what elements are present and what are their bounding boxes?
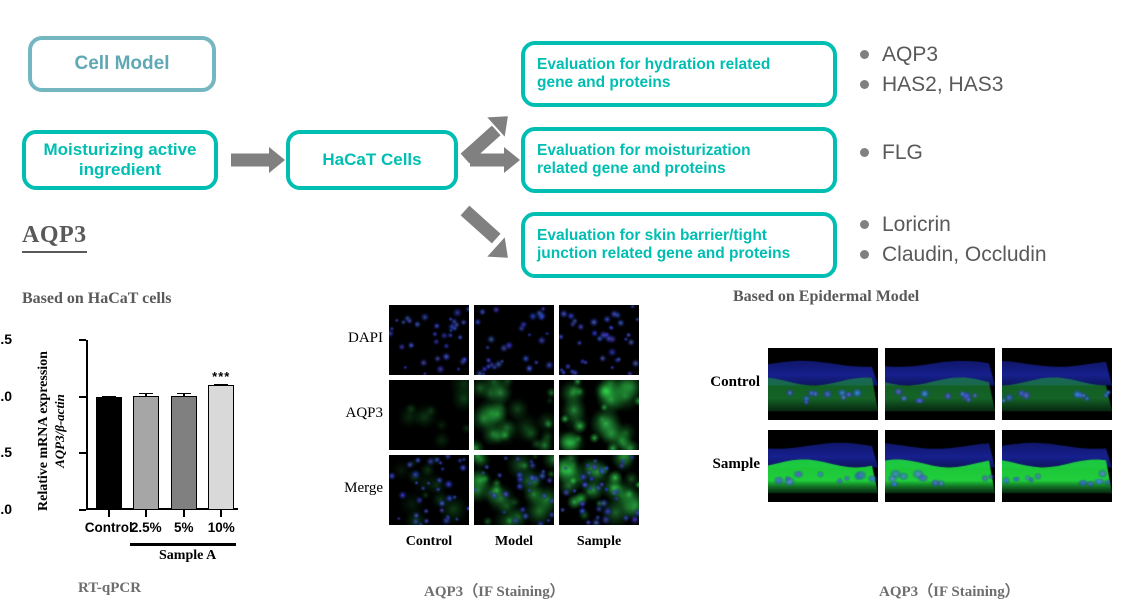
sample-a-bracket [130, 543, 236, 546]
eval-box-moisturization[interactable]: Evaluation for moisturizationrelated gen… [521, 127, 837, 193]
arrow-shaft [461, 206, 501, 244]
micrograph-cell [474, 305, 554, 375]
mid-col-label-sample: Sample [577, 534, 621, 550]
error-bar-cap [139, 393, 153, 395]
arrow-head [269, 147, 285, 173]
mid-col-label-model: Model [495, 534, 533, 550]
hacat-label: HaCaT Cells [322, 150, 421, 170]
mid-panel-caption: AQP3（IF Staining） [424, 580, 565, 601]
error-bar-cap [177, 393, 191, 395]
micrograph-cell [885, 430, 995, 502]
x-tick-label: 2.5% [131, 520, 162, 535]
left-panel-title: Based on HaCaT cells [22, 290, 172, 308]
plot-area: *** [86, 340, 236, 510]
micrograph-cell [474, 455, 554, 525]
bullet-label: AQP3 [882, 41, 938, 69]
y-tick-label: 1.5 [0, 331, 12, 347]
arrow-shaft [231, 154, 271, 167]
y-tick [79, 396, 86, 398]
bar [96, 397, 122, 510]
y-tick [79, 452, 86, 454]
left-panel-caption: RT-qPCR [78, 580, 141, 597]
micrograph-cell [389, 380, 469, 450]
hacat-box[interactable]: HaCaT Cells [286, 130, 458, 190]
micrograph-cell [885, 348, 995, 420]
bullet-label: Claudin, Occludin [882, 241, 1047, 269]
x-tick [108, 510, 110, 517]
eval-box-hydration-label: Evaluation for hydration relatedgene and… [537, 56, 770, 93]
right-panel-caption: AQP3（IF Staining） [879, 580, 1020, 601]
bullet-dot-icon [860, 50, 869, 59]
list-item: HAS2, HAS3 [860, 71, 1003, 99]
mid-row-label-aqp3: AQP3 [335, 405, 383, 422]
y-tick [79, 339, 86, 341]
list-item: Loricrin [860, 211, 1047, 239]
page-title: AQP3 [22, 222, 87, 253]
bullet-group-barrier: Loricrin Claudin, Occludin [860, 211, 1047, 270]
mid-micrograph-grid: DAPIAQP3MergeControlModelSample [335, 305, 640, 550]
cell-model-label: Cell Model [74, 53, 169, 75]
y-axis [86, 340, 88, 510]
significance-marker: *** [212, 369, 230, 384]
bullet-dot-icon [860, 220, 869, 229]
micrograph-cell [559, 305, 639, 375]
micrograph-cell [1002, 348, 1112, 420]
y-tick-label: 0.0 [0, 501, 12, 517]
ingredient-label: Moisturizing activeingredient [43, 140, 196, 180]
x-tick-label: Control [85, 520, 133, 535]
bar-chart: Relative mRNA expression AQP3/β-actin **… [20, 326, 250, 566]
ingredient-box[interactable]: Moisturizing activeingredient [22, 130, 218, 190]
micrograph-cell [768, 348, 878, 420]
bullet-dot-icon [860, 148, 869, 157]
y-axis-label: Relative mRNA expression AQP3/β-actin [36, 336, 68, 526]
cell-model-box[interactable]: Cell Model [28, 36, 216, 92]
micrograph-cell [768, 430, 878, 502]
y-axis-label-line1: Relative mRNA expression [36, 336, 52, 526]
eval-box-barrier[interactable]: Evaluation for skin barrier/tightjunctio… [521, 212, 837, 278]
arrow-shaft [470, 154, 506, 167]
list-item: FLG [860, 139, 923, 167]
arrow-hacat-to-eval2 [470, 146, 520, 174]
error-bar-cap [214, 384, 228, 386]
y-axis-label-line2: AQP3/β-actin [52, 336, 68, 526]
list-item: AQP3 [860, 41, 1003, 69]
micrograph-cell [474, 380, 554, 450]
bar [171, 396, 197, 510]
arrow-head [504, 147, 520, 173]
eval-box-moisturization-label: Evaluation for moisturizationrelated gen… [537, 142, 751, 179]
right-micrograph-grid: ControlSample [690, 348, 1115, 533]
right-row-label-control: Control [690, 374, 760, 391]
list-item: Claudin, Occludin [860, 241, 1047, 269]
mid-row-label-merge: Merge [335, 480, 383, 497]
micrograph-cell [559, 380, 639, 450]
bullet-group-hydration: AQP3 HAS2, HAS3 [860, 41, 1003, 100]
x-tick [183, 510, 185, 517]
bullet-label: FLG [882, 139, 923, 167]
bullet-label: Loricrin [882, 211, 951, 239]
mid-col-label-control: Control [406, 534, 452, 550]
y-tick-label: 0.5 [0, 444, 12, 460]
error-bar-cap [102, 396, 116, 398]
right-panel-title: Based on Epidermal Model [733, 288, 919, 306]
bullet-dot-icon [860, 250, 869, 259]
x-tick [220, 510, 222, 517]
micrograph-cell [389, 455, 469, 525]
x-tick-label: 10% [208, 520, 235, 535]
micrograph-cell [389, 305, 469, 375]
y-tick [79, 509, 86, 511]
arrow-hacat-to-eval3 [465, 198, 525, 250]
mid-row-label-dapi: DAPI [335, 330, 383, 347]
bullet-label: HAS2, HAS3 [882, 71, 1003, 99]
bullet-dot-icon [860, 80, 869, 89]
eval-box-hydration[interactable]: Evaluation for hydration relatedgene and… [521, 41, 837, 107]
eval-box-barrier-label: Evaluation for skin barrier/tightjunctio… [537, 227, 790, 264]
right-row-label-sample: Sample [690, 456, 760, 473]
sample-a-label: Sample A [159, 548, 216, 564]
bar [133, 396, 159, 510]
bullet-group-moisturization: FLG [860, 139, 923, 169]
y-tick-label: 1.0 [0, 388, 12, 404]
x-tick [145, 510, 147, 517]
micrograph-cell [559, 455, 639, 525]
micrograph-cell [1002, 430, 1112, 502]
x-tick-label: 5% [174, 520, 194, 535]
arrow-ingredient-to-hacat [231, 146, 285, 174]
bar [208, 385, 234, 510]
